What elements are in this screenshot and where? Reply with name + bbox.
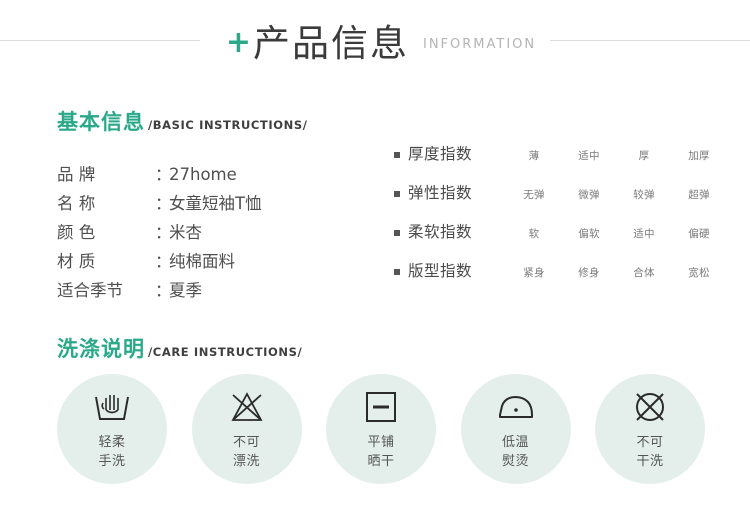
index-segment: 适中	[620, 222, 668, 241]
page-title-block: + 产品信息 INFORMATION	[226, 13, 536, 67]
bullet-icon	[394, 152, 400, 158]
segment-label: 偏软	[578, 228, 600, 240]
care-item-flat-dry: 平铺 晒干	[326, 374, 436, 484]
segment-label: 无弹	[523, 189, 545, 201]
basic-info-heading-en: /BASIC INSTRUCTIONS/	[148, 118, 308, 132]
index-segment: 偏软	[565, 222, 613, 241]
bullet-icon	[394, 230, 400, 236]
care-label-line2: 干洗	[636, 453, 663, 472]
care-label-line1: 不可	[233, 434, 260, 453]
header-rule-left	[0, 40, 200, 41]
segment-label: 微弹	[578, 189, 600, 201]
basic-info-section: 基本信息 /BASIC INSTRUCTIONS/ 品 牌 ： 27home 名…	[57, 106, 308, 306]
page-header: + 产品信息 INFORMATION	[0, 0, 750, 80]
index-segment: 无弹	[510, 183, 558, 202]
index-label-elasticity: 弹性指数	[408, 183, 510, 203]
care-label-line2: 熨烫	[502, 453, 529, 472]
spec-row-color: 颜 色 ： 米杏	[57, 219, 308, 248]
segment-label: 适中	[633, 228, 655, 240]
index-segment: 微弹	[565, 183, 613, 202]
care-instructions-heading: 洗涤说明 /CARE INSTRUCTIONS/	[57, 333, 302, 363]
segment-label: 适中	[578, 150, 600, 162]
spec-label-color: 颜 色 ：	[57, 219, 169, 243]
index-segment: 较弹	[620, 183, 668, 202]
basic-info-heading-cn: 基本信息	[57, 106, 145, 136]
spec-list: 品 牌 ： 27home 名 称 ： 女童短袖T恤 颜 色 ： 米杏 材	[57, 161, 308, 306]
spec-row-name: 名 称 ： 女童短袖T恤	[57, 190, 308, 219]
segment-label: 厚	[639, 150, 650, 162]
care-label-flat-dry: 平铺 晒干	[367, 434, 394, 472]
spec-label-name-text: 名 称	[57, 190, 149, 214]
spec-row-season: 适合季节 ： 夏季	[57, 277, 308, 306]
basic-info-heading: 基本信息 /BASIC INSTRUCTIONS/	[57, 106, 308, 136]
segment-label: 较弹	[633, 189, 655, 201]
care-item-low-temp-iron: 低温 熨烫	[461, 374, 571, 484]
page-title-subtitle: INFORMATION	[423, 37, 536, 52]
index-segment: 偏硬	[675, 222, 723, 241]
index-block: 厚度指数 薄 适中 厚 加厚 弹性指数 无	[394, 144, 723, 300]
care-label-line1: 低温	[502, 434, 529, 453]
spec-value-brand: 27home	[169, 165, 237, 184]
care-label-low-temp-iron: 低温 熨烫	[502, 434, 529, 472]
care-label-line1: 不可	[636, 434, 663, 453]
care-label-line2: 漂洗	[233, 453, 260, 472]
segment-label: 加厚	[688, 150, 710, 162]
spec-label-material: 材 质 ：	[57, 248, 169, 272]
index-segment: 软	[510, 222, 558, 241]
index-scale-elasticity: 无弹 微弹 较弹 超弹	[510, 183, 723, 202]
index-segment: 厚	[620, 144, 668, 163]
index-segment: 适中	[565, 144, 613, 163]
care-label-line1: 轻柔	[98, 434, 125, 453]
care-label-hand-wash: 轻柔 手洗	[98, 434, 125, 472]
care-item-no-dry-clean: 不可 干洗	[595, 374, 705, 484]
segment-label: 修身	[578, 267, 600, 279]
page-title: 产品信息	[253, 13, 409, 67]
bullet-icon	[394, 269, 400, 275]
care-icon-row: 轻柔 手洗 不可 漂洗 平铺 晒干	[57, 374, 705, 484]
segment-label: 超弹	[688, 189, 710, 201]
index-scale-fit: 紧身 修身 合体 宽松	[510, 261, 723, 280]
plus-icon: +	[226, 28, 251, 58]
care-item-hand-wash: 轻柔 手洗	[57, 374, 167, 484]
header-rule-right	[550, 40, 750, 41]
index-segment: 紧身	[510, 261, 558, 280]
care-label-no-bleach: 不可 漂洗	[233, 434, 260, 472]
no-dry-clean-icon	[631, 386, 669, 428]
spec-label-color-text: 颜 色	[57, 219, 149, 243]
low-temp-iron-icon	[495, 386, 537, 428]
spec-colon-brand: ：	[155, 161, 169, 185]
segment-label: 合体	[633, 267, 655, 279]
index-segment: 宽松	[675, 261, 723, 280]
no-bleach-icon	[227, 386, 267, 428]
spec-row-brand: 品 牌 ： 27home	[57, 161, 308, 190]
index-label-thickness: 厚度指数	[408, 144, 510, 164]
bullet-icon	[394, 191, 400, 197]
care-heading-en: /CARE INSTRUCTIONS/	[148, 345, 302, 359]
hand-wash-icon	[92, 386, 132, 428]
care-item-no-bleach: 不可 漂洗	[192, 374, 302, 484]
spec-row-material: 材 质 ： 纯棉面料	[57, 248, 308, 277]
care-heading-cn: 洗涤说明	[57, 333, 145, 363]
index-label-softness: 柔软指数	[408, 222, 510, 242]
index-segment: 修身	[565, 261, 613, 280]
flat-dry-icon	[363, 386, 399, 428]
index-scale-softness: 软 偏软 适中 偏硬	[510, 222, 723, 241]
spec-label-material-text: 材 质	[57, 248, 149, 272]
index-segment: 加厚	[675, 144, 723, 163]
spec-label-brand-text: 品 牌	[57, 161, 149, 185]
spec-value-name: 女童短袖T恤	[169, 190, 262, 214]
spec-label-brand: 品 牌 ：	[57, 161, 169, 185]
spec-value-season: 夏季	[169, 277, 202, 301]
index-row-elasticity: 弹性指数 无弹 微弹 较弹 超弹	[394, 183, 723, 222]
index-segment: 薄	[510, 144, 558, 163]
spec-value-material: 纯棉面料	[169, 248, 235, 272]
segment-label: 宽松	[688, 267, 710, 279]
spec-colon-color: ：	[155, 219, 169, 243]
spec-colon-season: ：	[155, 277, 169, 301]
index-row-thickness: 厚度指数 薄 适中 厚 加厚	[394, 144, 723, 183]
care-label-line2: 晒干	[367, 453, 394, 472]
index-label-fit: 版型指数	[408, 261, 510, 281]
care-instructions-section: 洗涤说明 /CARE INSTRUCTIONS/	[57, 333, 302, 363]
segment-label: 偏硬	[688, 228, 710, 240]
care-label-line2: 手洗	[98, 453, 125, 472]
care-label-no-dry-clean: 不可 干洗	[636, 434, 663, 472]
care-label-line1: 平铺	[367, 434, 394, 453]
index-segment: 超弹	[675, 183, 723, 202]
spec-label-name: 名 称 ：	[57, 190, 169, 214]
segment-label: 薄	[529, 150, 540, 162]
index-segment: 合体	[620, 261, 668, 280]
spec-label-season: 适合季节 ：	[57, 277, 169, 301]
index-row-fit: 版型指数 紧身 修身 合体 宽松	[394, 261, 723, 300]
spec-value-color: 米杏	[169, 219, 202, 243]
segment-label: 软	[529, 228, 540, 240]
index-scale-thickness: 薄 适中 厚 加厚	[510, 144, 723, 163]
spec-colon-name: ：	[155, 190, 169, 214]
spec-label-season-text: 适合季节	[57, 277, 149, 301]
segment-label: 紧身	[523, 267, 545, 279]
spec-colon-material: ：	[155, 248, 169, 272]
index-row-softness: 柔软指数 软 偏软 适中 偏硬	[394, 222, 723, 261]
